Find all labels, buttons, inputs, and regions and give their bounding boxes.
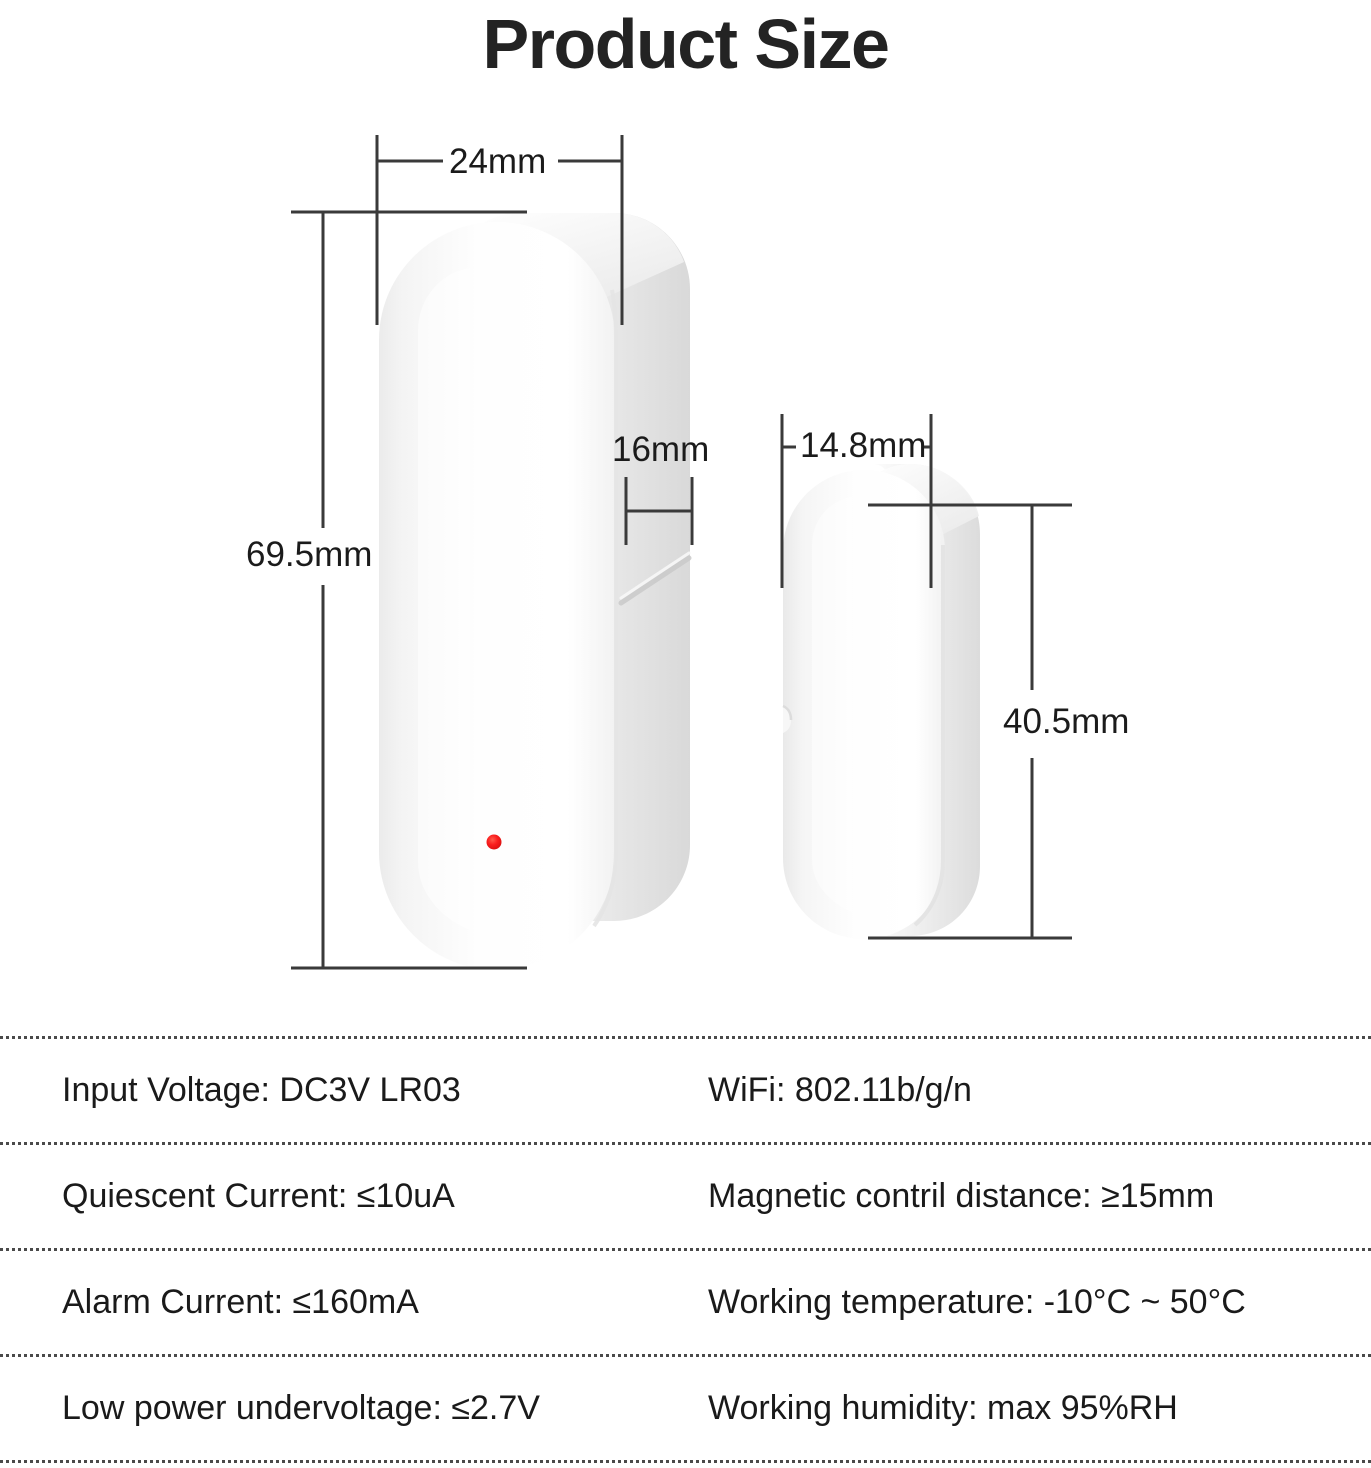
spec-low-power-undervoltage: Low power undervoltage: ≤2.7V: [0, 1389, 708, 1428]
spec-working-humidity: Working humidity: max 95%RH: [708, 1389, 1371, 1428]
spec-wifi: WiFi: 802.11b/g/n: [708, 1071, 1371, 1110]
spec-magnetic-distance: Magnetic contril distance: ≥15mm: [708, 1177, 1371, 1216]
magnet-front-face: [783, 470, 945, 939]
product-size-page: Product Size: [0, 0, 1371, 1468]
dim-label-14-8mm: 14.8mm: [800, 426, 926, 466]
door-sensor-magnet: [783, 464, 980, 939]
table-row: Alarm Current: ≤160mA Working temperatur…: [0, 1251, 1371, 1354]
specifications-table: Input Voltage: DC3V LR03 WiFi: 802.11b/g…: [0, 1036, 1371, 1463]
dim-label-40-5mm: 40.5mm: [1003, 702, 1129, 742]
sensor-body-front-face: [379, 222, 615, 970]
sensor-body-gloss: [418, 268, 470, 930]
table-row: Quiescent Current: ≤10uA Magnetic contri…: [0, 1145, 1371, 1248]
dim-label-69-5mm: 69.5mm: [246, 535, 372, 575]
status-led: [487, 835, 502, 850]
magnet-gloss: [812, 497, 852, 912]
table-row: Input Voltage: DC3V LR03 WiFi: 802.11b/g…: [0, 1039, 1371, 1142]
spec-quiescent-current: Quiescent Current: ≤10uA: [0, 1177, 708, 1216]
product-size-diagram: 24mm 69.5mm 16mm 14.8mm 40.5mm: [0, 0, 1371, 1030]
spec-input-voltage: Input Voltage: DC3V LR03: [0, 1071, 708, 1110]
dim-label-24mm: 24mm: [449, 142, 546, 182]
spec-working-temperature: Working temperature: -10°C ~ 50°C: [708, 1283, 1371, 1322]
door-sensor-main-body: [379, 213, 690, 970]
table-row: Low power undervoltage: ≤2.7V Working hu…: [0, 1357, 1371, 1460]
dim-label-16mm: 16mm: [612, 430, 709, 470]
spec-alarm-current: Alarm Current: ≤160mA: [0, 1283, 708, 1322]
table-divider: [0, 1460, 1371, 1463]
